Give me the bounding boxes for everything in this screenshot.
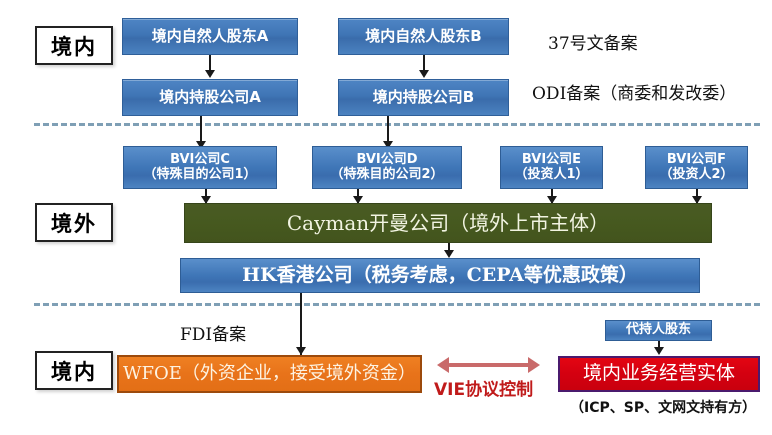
node-label-line2: （特殊目的公司2）	[330, 168, 443, 183]
node-label: 境内持股公司B	[373, 89, 474, 106]
arrowhead-holdco-a	[205, 70, 215, 78]
connector-holdco-b-to-bvi-d	[387, 116, 389, 143]
node-bvi-e[interactable]: BVI公司E （投资人1）	[500, 146, 603, 189]
node-label-line2: （特殊目的公司1）	[143, 168, 256, 183]
connector-hk-to-wfoe	[300, 293, 302, 355]
vie-arrow-bar	[448, 363, 530, 367]
node-shareholder-a[interactable]: 境内自然人股东A	[122, 18, 298, 55]
node-label: HK香港公司（税务考虑，CEPA等优惠政策）	[242, 265, 638, 286]
node-label: 境内业务经营实体	[583, 363, 735, 384]
arrowhead-hk	[444, 250, 454, 258]
node-hongkong[interactable]: HK香港公司（税务考虑，CEPA等优惠政策）	[180, 258, 700, 293]
arrowhead-holdco-b	[419, 70, 429, 78]
annotation-text: ODI备案（商委和发改委）	[532, 84, 736, 104]
annotation-odi-filing: ODI备案（商委和发改委）	[532, 79, 736, 104]
node-label: 境内自然人股东A	[152, 28, 269, 45]
node-wfoe[interactable]: WFOE（外资企业，接受境外资金）	[117, 355, 422, 393]
node-label: Cayman开曼公司（境外上市主体）	[287, 212, 609, 234]
node-holdco-a[interactable]: 境内持股公司A	[122, 79, 298, 116]
vie-control-label: VIE协议控制	[434, 375, 533, 400]
region-label-offshore: 境外	[35, 203, 113, 242]
node-label-line2: （投资人2）	[659, 168, 733, 183]
node-bvi-f[interactable]: BVI公司F （投资人2）	[645, 146, 748, 189]
node-nominee-shareholder[interactable]: 代持人股东	[605, 320, 712, 341]
node-label: WFOE（外资企业，接受境外资金）	[123, 364, 416, 384]
annotation-fdi-filing: FDI备案	[180, 320, 246, 345]
region-label-text: 境内	[51, 31, 97, 61]
node-operating-entity[interactable]: 境内业务经营实体	[558, 356, 760, 392]
node-label-line1: BVI公司E	[522, 153, 581, 168]
node-label: 境内自然人股东B	[365, 28, 481, 45]
annotation-text: FDI备案	[180, 325, 246, 345]
annotation-text: VIE协议控制	[434, 380, 533, 400]
node-label-line1: BVI公司D	[356, 153, 417, 168]
annotation-text: （ICP、SP、文网文持有方）	[570, 400, 756, 416]
org-structure-diagram: 境内 境外 境内 境内自然人股东A 境内自然人股东B 境内持股公司A 境内持股公…	[0, 0, 772, 435]
node-bvi-d[interactable]: BVI公司D （特殊目的公司2）	[312, 146, 462, 189]
region-label-domestic-bottom: 境内	[35, 351, 113, 390]
node-label: 境内持股公司A	[159, 89, 261, 106]
region-label-text: 境外	[51, 208, 97, 238]
arrowhead-opco	[654, 347, 664, 355]
annotation-filing-37: 37号文备案	[548, 29, 638, 54]
node-label-line2: （投资人1）	[514, 168, 588, 183]
node-bvi-c[interactable]: BVI公司C （特殊目的公司1）	[123, 146, 277, 189]
region-label-text: 境内	[51, 356, 97, 386]
node-shareholder-b[interactable]: 境内自然人股东B	[338, 18, 509, 55]
node-label: 代持人股东	[626, 323, 691, 338]
annotation-text: 37号文备案	[548, 34, 638, 54]
node-label-line1: BVI公司F	[667, 153, 726, 168]
divider-offshore-domestic	[34, 303, 760, 306]
vie-arrow-right-head	[528, 357, 540, 373]
region-label-domestic-top: 境内	[35, 26, 113, 65]
divider-domestic-offshore	[34, 123, 760, 126]
connector-holdco-a-to-bvi-c	[200, 116, 202, 143]
node-holdco-b[interactable]: 境内持股公司B	[338, 79, 509, 116]
arrowhead-wfoe	[296, 347, 306, 355]
node-cayman[interactable]: Cayman开曼公司（境外上市主体）	[184, 203, 712, 243]
operating-entity-note: （ICP、SP、文网文持有方）	[570, 397, 756, 417]
node-label-line1: BVI公司C	[170, 153, 230, 168]
